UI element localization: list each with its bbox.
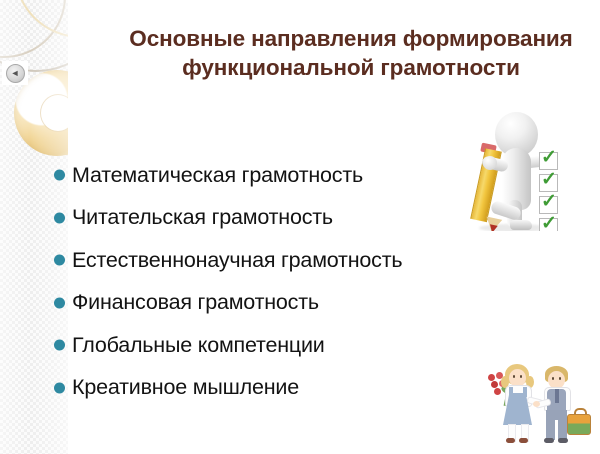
flower-icon — [491, 381, 498, 388]
check-icon: ✓ — [541, 192, 557, 211]
bullet-dot-icon — [54, 170, 65, 181]
girl-shoe — [506, 438, 515, 443]
check-icon: ✓ — [541, 214, 557, 231]
bullet-dot-icon — [54, 255, 65, 266]
checkbox-checked: ✓ — [539, 174, 558, 192]
bullet-dot-icon — [54, 382, 65, 393]
bullet-dot-icon — [54, 297, 65, 308]
checkbox-checked: ✓ — [539, 196, 558, 214]
checkbox-list: ✓ ✓ ✓ ✓ — [539, 152, 558, 231]
bullet-list: Математическая грамотность Читательская … — [50, 154, 520, 409]
pencil-lead-icon — [488, 224, 497, 231]
back-button[interactable]: ◄ — [2, 61, 28, 85]
boy-shoe — [558, 438, 568, 443]
list-item: Финансовая грамотность — [50, 282, 520, 325]
list-item: Креативное мышление — [50, 367, 520, 410]
list-item-label: Креативное мышление — [72, 375, 299, 400]
boy-eye — [559, 377, 561, 380]
check-icon: ✓ — [541, 148, 557, 167]
girl-dress-strap — [523, 387, 527, 397]
girl-eye — [520, 375, 522, 378]
schoolchildren-image — [475, 358, 595, 452]
list-item-label: Естественнонаучная грамотность — [72, 248, 402, 273]
briefcase-icon — [567, 414, 591, 435]
list-item: Глобальные компетенции — [50, 324, 520, 367]
list-item: Естественнонаучная грамотность — [50, 239, 520, 282]
pencil-figure-image: ✓ ✓ ✓ ✓ — [455, 108, 581, 231]
list-item-label: Финансовая грамотность — [72, 290, 319, 315]
boy-pants-gap — [555, 420, 558, 440]
back-arrow-icon: ◄ — [6, 64, 25, 83]
list-item: Математическая грамотность — [50, 154, 520, 197]
figure-foot — [510, 220, 532, 230]
flower-icon — [488, 374, 495, 381]
checkbox-checked: ✓ — [539, 152, 558, 170]
check-icon: ✓ — [541, 170, 557, 189]
held-hands — [533, 401, 540, 407]
boy-tie — [555, 389, 559, 403]
list-item-label: Читательская грамотность — [72, 205, 333, 230]
flower-icon — [494, 388, 501, 395]
page-title: Основные направления формирования функци… — [108, 24, 594, 82]
list-item-label: Глобальные компетенции — [72, 333, 325, 358]
girl-eye — [513, 375, 515, 378]
boy-shoe — [544, 438, 554, 443]
list-item: Читательская грамотность — [50, 197, 520, 240]
girl-dress-strap — [509, 387, 513, 397]
bullet-dot-icon — [54, 212, 65, 223]
bullet-dot-icon — [54, 340, 65, 351]
figure-hand — [483, 156, 497, 170]
list-item-label: Математическая грамотность — [72, 163, 363, 188]
girl-shoe — [519, 438, 528, 443]
checkbox-checked: ✓ — [539, 218, 558, 231]
slide: ◄ Основные направления формирования функ… — [0, 0, 600, 454]
boy-eye — [552, 377, 554, 380]
